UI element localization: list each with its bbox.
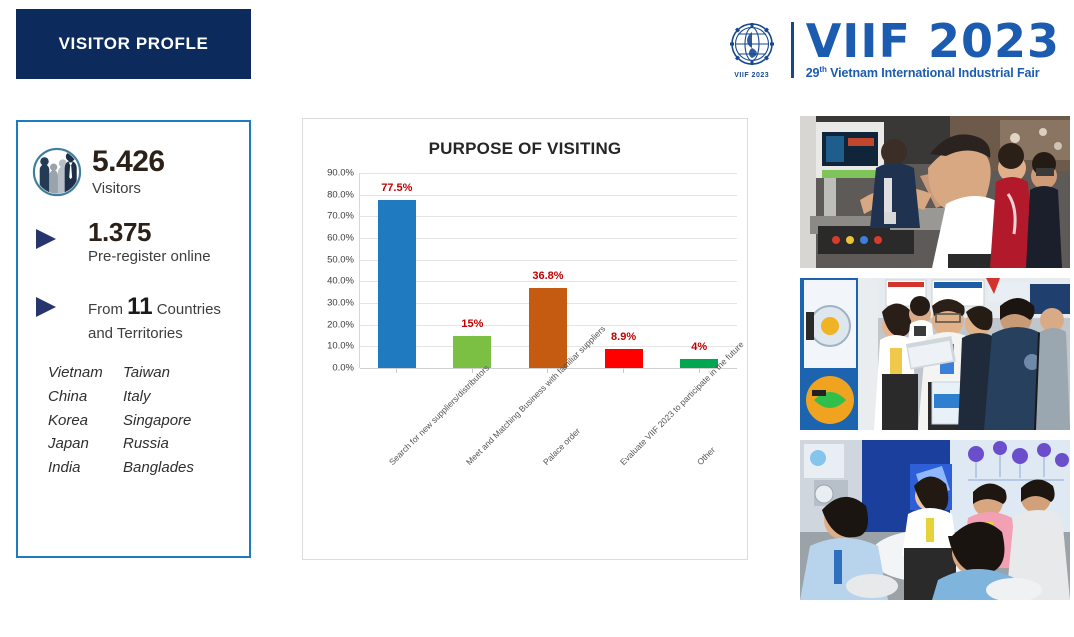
country-item: Korea bbox=[48, 410, 123, 433]
viif-logo-emblem: VIIF 2023 bbox=[725, 21, 779, 79]
page-title: VISITOR PROFLE bbox=[59, 34, 209, 54]
y-tick-label: 70.0% bbox=[327, 211, 354, 222]
x-tick-slot bbox=[661, 368, 737, 374]
bar[interactable] bbox=[453, 336, 491, 369]
country-item: Italy bbox=[123, 386, 249, 409]
bar[interactable] bbox=[605, 349, 643, 368]
bar-group[interactable]: 77.5% bbox=[359, 173, 435, 368]
country-item: Taiwan bbox=[123, 362, 249, 385]
bar-group[interactable]: 4% bbox=[661, 173, 737, 368]
chart-bars: 77.5%15%36.8%8.9%4% bbox=[359, 173, 737, 368]
chart-plot-area: 90.0%80.0%70.0%60.0%50.0%40.0%30.0%20.0%… bbox=[311, 173, 737, 368]
visitors-count: 5.426 bbox=[92, 147, 165, 178]
country-item: Singapore bbox=[123, 410, 249, 433]
y-tick-label: 0.0% bbox=[332, 363, 354, 374]
bar-group[interactable]: 15% bbox=[435, 173, 511, 368]
y-tick-label: 90.0% bbox=[327, 168, 354, 179]
logo-divider bbox=[791, 22, 794, 78]
bar-value-label: 4% bbox=[691, 341, 707, 353]
bar[interactable] bbox=[529, 288, 567, 368]
x-tick-slot bbox=[586, 368, 662, 374]
people-group-icon bbox=[32, 147, 82, 197]
y-tick-label: 30.0% bbox=[327, 298, 354, 309]
country-item: Russia bbox=[123, 433, 249, 456]
arrow-right-icon bbox=[36, 229, 76, 249]
visitor-stats-panel: 5.426 Visitors 1.375 Pre-register online… bbox=[16, 120, 251, 558]
logo-main-text: VIIF 2023 bbox=[806, 20, 1060, 62]
preregister-label: Pre-register online bbox=[88, 248, 211, 265]
bar-value-label: 77.5% bbox=[381, 182, 412, 194]
x-tick-slot bbox=[359, 368, 435, 374]
x-axis-tick-labels: Search for new suppliers/distributorsMee… bbox=[361, 457, 747, 637]
bar-value-label: 15% bbox=[461, 318, 483, 330]
x-tick-slot bbox=[510, 368, 586, 374]
y-tick-label: 50.0% bbox=[327, 254, 354, 265]
logo-sub-text: 29th Vietnam International Industrial Fa… bbox=[806, 65, 1060, 80]
x-tick bbox=[699, 368, 700, 373]
bar-group[interactable]: 36.8% bbox=[510, 173, 586, 368]
country-item: Vietnam bbox=[48, 362, 123, 385]
stat-countries: From 11 Countries and Territories bbox=[18, 265, 249, 344]
country-item: Japan bbox=[48, 433, 123, 456]
country-item: Banglades bbox=[123, 457, 249, 480]
countries-headline-line2: and Territories bbox=[88, 324, 221, 344]
globe-gear-icon bbox=[725, 21, 779, 71]
page-title-banner: VISITOR PROFLE bbox=[16, 9, 251, 79]
viif-logo-emblem-label: VIIF 2023 bbox=[734, 72, 769, 79]
bar-value-label: 36.8% bbox=[532, 270, 563, 282]
y-tick-label: 80.0% bbox=[327, 189, 354, 200]
photo-booth-visitors-brochure bbox=[800, 278, 1070, 430]
y-tick-label: 10.0% bbox=[327, 341, 354, 352]
x-tick bbox=[547, 368, 548, 373]
country-item: India bbox=[48, 457, 123, 480]
purpose-of-visiting-chart: PURPOSE OF VISITING 90.0%80.0%70.0%60.0%… bbox=[302, 118, 748, 560]
bar-value-label: 8.9% bbox=[611, 331, 636, 343]
stat-preregister: 1.375 Pre-register online bbox=[18, 197, 249, 265]
x-tick-label: Palace order bbox=[541, 426, 582, 467]
y-tick-label: 60.0% bbox=[327, 233, 354, 244]
country-item: China bbox=[48, 386, 123, 409]
x-tick bbox=[396, 368, 397, 373]
visitors-label: Visitors bbox=[92, 180, 165, 197]
countries-count: 11 bbox=[127, 293, 152, 320]
viif-logo: VIIF 2023 VIIF 2023 29th Vietnam Interna… bbox=[725, 18, 1060, 82]
countries-headline: From 11 Countries bbox=[88, 291, 221, 323]
country-list: Vietnam Taiwan China Italy Korea Singapo… bbox=[48, 362, 249, 480]
stat-visitors: 5.426 Visitors bbox=[18, 122, 249, 197]
photo-booth-visitors-brochure-image bbox=[800, 278, 1070, 430]
chart-title: PURPOSE OF VISITING bbox=[303, 139, 747, 159]
x-tick-label: Other bbox=[695, 445, 717, 467]
x-tick bbox=[623, 368, 624, 373]
photo-meeting-table-discussion bbox=[800, 440, 1070, 600]
bar[interactable] bbox=[378, 200, 416, 368]
photo-exhibition-machine-demo-image bbox=[800, 116, 1070, 268]
preregister-count: 1.375 bbox=[88, 219, 211, 246]
photo-exhibition-machine-demo bbox=[800, 116, 1070, 268]
x-axis-ticks bbox=[359, 368, 737, 374]
photo-meeting-table-discussion-image bbox=[800, 440, 1070, 600]
arrow-right-icon bbox=[36, 297, 76, 317]
y-tick-label: 40.0% bbox=[327, 276, 354, 287]
y-tick-label: 20.0% bbox=[327, 319, 354, 330]
y-axis-tick-labels: 90.0%80.0%70.0%60.0%50.0%40.0%30.0%20.0%… bbox=[311, 173, 357, 368]
